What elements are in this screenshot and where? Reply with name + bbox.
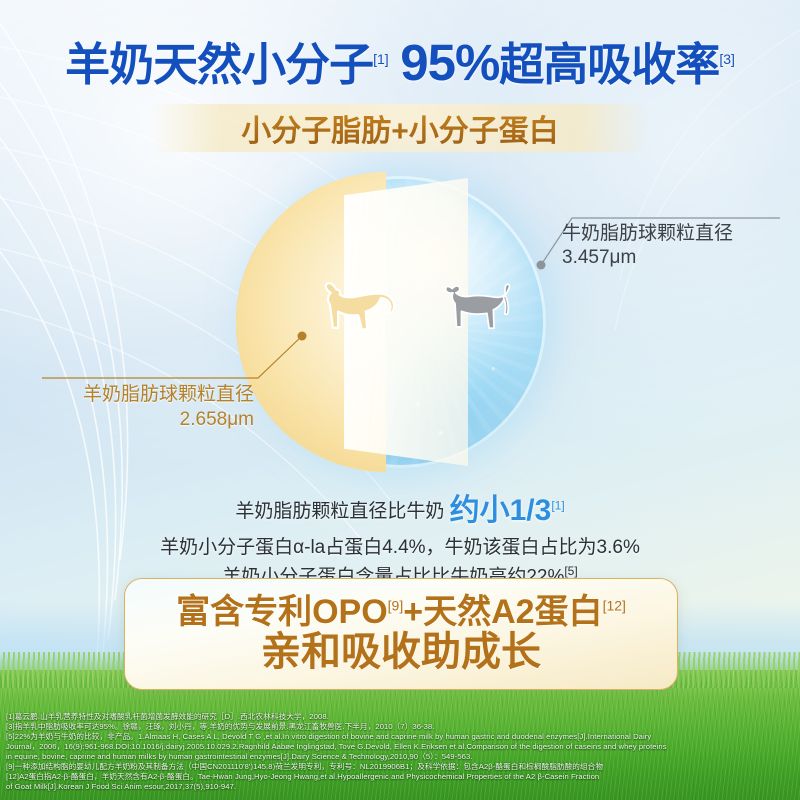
footnote-line: [1]葛云鹏.山羊乳营养特性及对嗜酸乳杆菌增菌发酵效能的研究［D］.西北农林科技…: [6, 712, 800, 722]
benefit-sup-9: [9]: [388, 597, 404, 613]
goat-silhouette-icon: [318, 272, 400, 342]
benefit-card-line-1: 富含专利OPO[9]+天然A2蛋白[12]: [176, 595, 626, 630]
headline-sup-3: [3]: [719, 51, 735, 67]
footnotes: [1]葛云鹏.山羊乳营养特性及对嗜酸乳杆菌增菌发酵效能的研究［D］.西北农林科技…: [6, 712, 800, 792]
footnote-line: [9]一种添加结构脂的婴幼儿配方羊奶粉及其制备方法（中国CN201110'8')…: [6, 762, 800, 772]
headline-part1: 羊奶天然小分子: [65, 39, 373, 90]
footnote-line: Journal，2006，16(9):961-968.DOI:10.1016/j…: [6, 742, 800, 752]
comparison-line-1-accent: 约小1/3: [450, 494, 552, 527]
cow-silhouette-icon: [443, 272, 521, 342]
comparison-line-2: 羊奶小分子蛋白α-la占蛋白4.4%，牛奶该蛋白占比为3.6%: [0, 534, 800, 563]
benefit-sup-12: [12]: [603, 597, 626, 613]
headline: 羊奶天然小分子[1] 95%超高吸收率[3]: [0, 28, 800, 93]
sub-headline-text: 小分子脂肪+小分子蛋白: [241, 106, 559, 150]
benefit-opo-text: 富含专利OPO: [176, 593, 388, 631]
comparison-line-3-sup: [5]: [564, 564, 577, 578]
callout-left-title: 羊奶脂肪球颗粒直径: [42, 383, 254, 408]
footnote-line: of Goat Milk[J].Korean J Food Sci Anim e…: [6, 782, 800, 792]
callout-right-title: 牛奶脂肪球颗粒直径: [562, 222, 733, 246]
comparison-line-1: 羊奶脂肪颗粒直径比牛奶 约小1/3[1]: [0, 488, 800, 534]
headline-part3: 超高吸收率: [499, 39, 719, 90]
promo-poster: 羊奶天然小分子[1] 95%超高吸收率[3] 小分子脂肪+小分子蛋白: [0, 0, 800, 800]
callout-left: 羊奶脂肪球颗粒直径 2.658μm: [42, 383, 254, 432]
callout-right: 牛奶脂肪球颗粒直径 3.457μm: [562, 222, 733, 271]
sub-headline-banner: 小分子脂肪+小分子蛋白: [150, 104, 650, 152]
comparison-line-1-prefix: 羊奶脂肪颗粒直径比牛奶: [235, 501, 444, 522]
benefit-card: 富含专利OPO[9]+天然A2蛋白[12] 亲和吸收助成长: [124, 578, 678, 690]
benefit-card-line-2: 亲和吸收助成长: [261, 631, 541, 673]
benefit-a2-text: +天然A2蛋白: [403, 593, 602, 631]
footnote-line: [5]22%为羊奶与牛奶的比较，非产品。1.Almaas H, Cases A …: [6, 732, 800, 742]
callout-right-value: 3.457μm: [562, 246, 733, 270]
headline-percent: 95%: [400, 34, 499, 91]
comparison-line-1-sup: [1]: [551, 499, 564, 513]
comparison-text-block: 羊奶脂肪颗粒直径比牛奶 约小1/3[1] 羊奶小分子蛋白α-la占蛋白4.4%，…: [0, 488, 800, 593]
callout-left-value: 2.658μm: [42, 408, 254, 433]
headline-sup-1: [1]: [373, 51, 389, 67]
footnote-line: in equine, bovine, caprine and human mil…: [6, 752, 800, 762]
footnote-line: [3]指羊乳中脂肪吸收率可达95%。徐赣，汪琢，刘小丹，等.羊奶的优势与发展前景…: [6, 722, 800, 732]
fat-globule-comparison-graphic: [236, 172, 546, 484]
footnote-line: [12]A2蛋白指A2-β-酪蛋白，羊奶天然含有A2-β-酪蛋白。Tae-Hwa…: [6, 772, 800, 782]
